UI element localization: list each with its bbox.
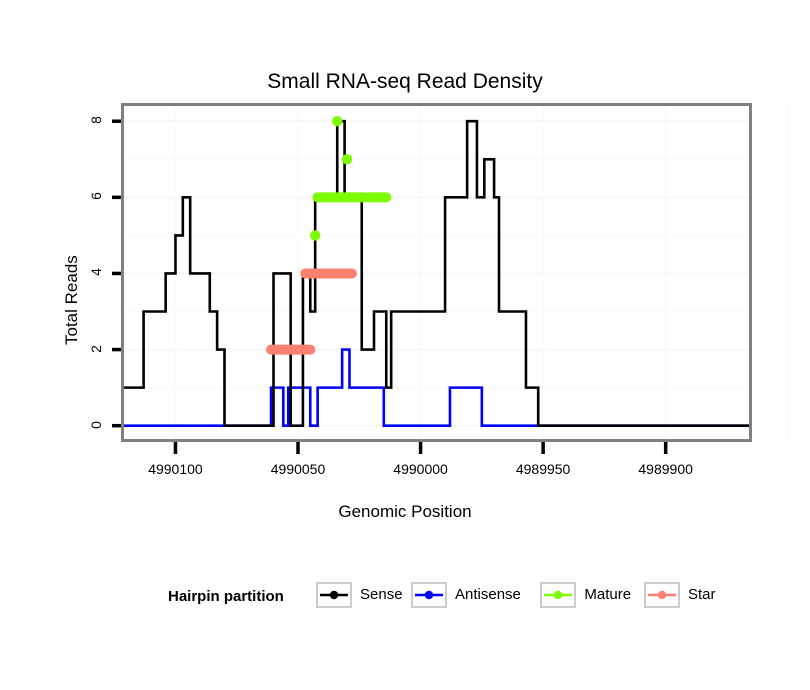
legend-key-glyph (542, 584, 574, 606)
y-tick-label: 8 (88, 108, 104, 132)
legend-key-sense[interactable] (316, 582, 352, 608)
legend-key-glyph (646, 584, 678, 606)
chart-title: Small RNA-seq Read Density (0, 70, 810, 94)
axis-ticks (112, 121, 666, 454)
x-tick-label: 4989950 (498, 461, 588, 477)
legend-label-sense: Sense (360, 586, 403, 603)
x-tick-label: 4990100 (130, 461, 220, 477)
legend-label-mature: Mature (584, 586, 631, 603)
x-tick-label: 4989900 (621, 461, 711, 477)
legend-key-antisense[interactable] (411, 582, 447, 608)
y-tick-label: 2 (88, 337, 104, 361)
x-tick-label: 4990050 (253, 461, 343, 477)
x-tick-label: 4990000 (376, 461, 466, 477)
legend-key-glyph (413, 584, 445, 606)
legend-label-star: Star (688, 586, 716, 603)
y-axis-label: Total Reads (62, 255, 82, 345)
annotation-segments (271, 116, 386, 350)
legend-key-star[interactable] (644, 582, 680, 608)
legend-title: Hairpin partition (168, 588, 284, 605)
y-tick-label: 0 (88, 413, 104, 437)
y-tick-label: 6 (88, 184, 104, 208)
legend-key-mature[interactable] (540, 582, 576, 608)
chart-figure: Small RNA-seq Read Density Total Reads G… (0, 0, 810, 690)
x-axis-label: Genomic Position (0, 502, 810, 522)
y-tick-label: 4 (88, 260, 104, 284)
legend-label-antisense: Antisense (455, 586, 521, 603)
legend-key-glyph (318, 584, 350, 606)
